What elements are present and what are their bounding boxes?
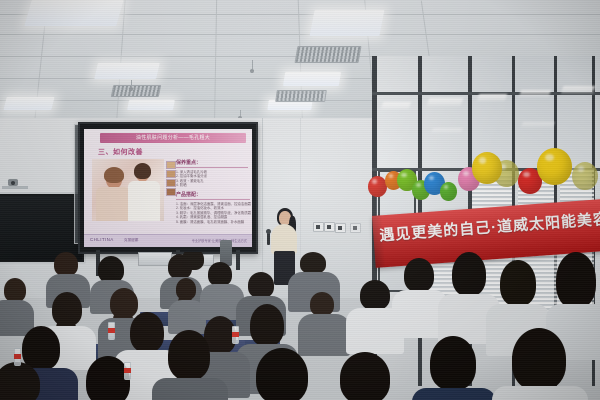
wall-outlet[interactable] [350,223,361,233]
slide-brand-cn: 克丽缇娜 [124,238,138,243]
window-reflection [477,94,507,101]
window-reflection [427,98,464,106]
block-title: 保养重点： [176,159,248,168]
photo-person-client-body [96,187,130,221]
slide-heading: 三、如何改善 [98,147,143,157]
water-bottle[interactable] [232,326,239,344]
photo-person-client-hair [104,167,124,183]
photo-person-consultant-coat [128,181,160,221]
ceiling-light [127,100,175,110]
block-line: 5. 面膜：清洁面膜、毛孔收敛面膜、补水面膜 [176,220,250,224]
ceiling-light [309,10,384,36]
sprinkler-head [250,69,254,73]
block-line: 4. 防晒 [176,183,248,187]
ceiling-light [24,0,123,26]
window-reflection [521,122,555,127]
window-reflection [381,102,411,109]
microphone [267,233,270,245]
presenter-top [271,224,297,254]
presentation-slide: 油性肌肤问题分析——毛孔粗大 三、如何改善 保养重点： 1. 深入清洁毛孔污垢 … [84,129,252,247]
balloon-green-3 [440,182,457,201]
balloon-yellow-2 [537,148,572,185]
water-bottle[interactable] [108,322,115,340]
slide-brand-logo: CHLITINA [90,237,114,242]
monitor-screen [0,196,82,260]
slide-block-product-match: 产品搭配： 1. 洁面：深层净化洁面露、清爽洁面、控油洁面霜 2. 化妆水：控油… [176,191,250,224]
video-camera [8,179,18,186]
water-bottle[interactable] [124,362,131,380]
ceiling-air-vent [275,90,327,102]
ceiling-air-vent [295,46,362,63]
audience [0,252,600,400]
slide-block-care-points: 保养重点： 1. 深入清洁毛孔污垢 2. 控油平衡水油分泌 3. 收敛・紧致毛孔… [176,159,248,188]
window-reflection [561,86,596,94]
balloon-olive-2 [572,162,598,190]
microphone-head [266,229,271,234]
balloon-yellow-1 [472,152,502,184]
block-title: 产品搭配： [176,191,250,200]
wall-switch[interactable] [313,222,324,232]
slide-photo [92,159,164,221]
sprinkler-head [129,87,133,91]
ceiling-light [3,97,54,110]
photo-person-consultant-hair [134,163,151,179]
slide-title-bar: 油性肌肤问题分析——毛孔粗大 [100,133,246,143]
wall-switch[interactable] [335,223,346,233]
wall-switch[interactable] [324,222,335,232]
window-reflection [431,128,463,133]
water-bottle[interactable] [14,348,21,366]
projection-screen: 油性肌肤问题分析——毛孔粗大 三、如何改善 保养重点： 1. 深入清洁毛孔污垢 … [78,122,258,254]
window-reflection [519,90,551,97]
ceiling-light [94,63,160,79]
ceiling-light [283,72,341,86]
ceiling-air-vent [111,85,162,97]
camera-mount [2,186,28,189]
lecture-room-photo: 油性肌肤问题分析——毛孔粗大 三、如何改善 保养重点： 1. 深入清洁毛孔污垢 … [0,0,600,400]
slide-color-swatches [166,161,174,197]
